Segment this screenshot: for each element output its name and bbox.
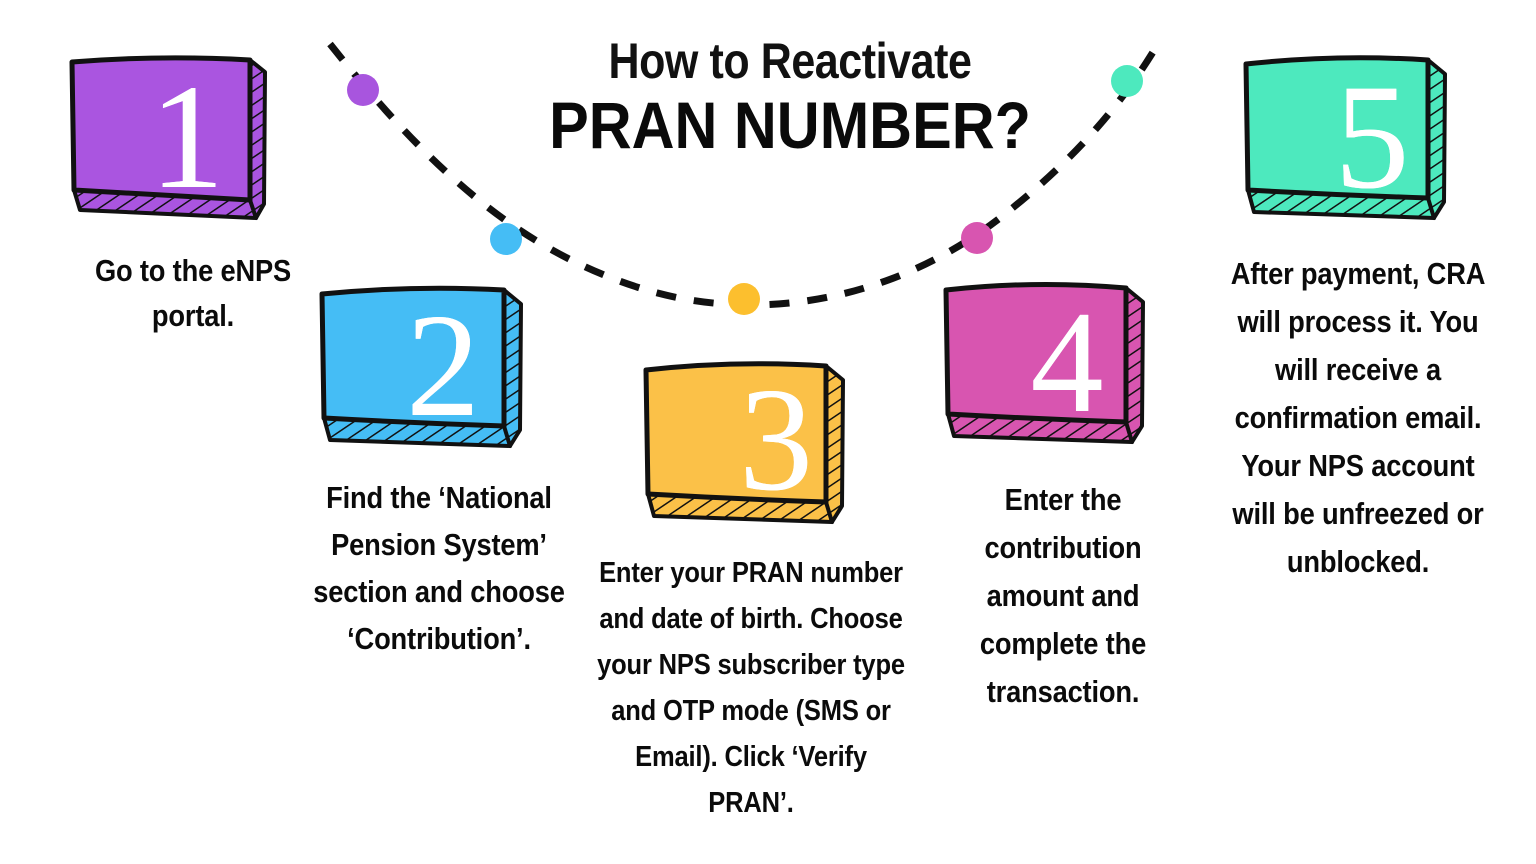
step-2-card[interactable]: 2: [310, 278, 584, 458]
step-4-caption: Enter the contribution amount and comple…: [935, 476, 1190, 716]
step-2-caption: Find the ‘National Pension System’ secti…: [311, 474, 566, 662]
dot-blue: [490, 223, 522, 255]
card-shape-2: [310, 278, 528, 458]
step-4-card[interactable]: 4: [934, 274, 1208, 456]
step-3-caption: Enter your PRAN number and date of birth…: [597, 550, 905, 826]
card-shape-1: [60, 48, 270, 230]
dot-yellow: [728, 283, 760, 315]
step-5: 5 After payment, CRA will process it. Yo…: [1234, 48, 1518, 586]
step-1-caption: Go to the eNPS portal.: [83, 248, 303, 338]
card-shape-4: [934, 274, 1150, 456]
infographic-canvas: How to Reactivate PRAN NUMBER? 1 Go to t…: [0, 0, 1536, 864]
dashed-path: [330, 44, 1158, 305]
card-shape-3: [634, 352, 850, 534]
step-1-card[interactable]: 1: [60, 48, 318, 230]
step-3-card[interactable]: 3: [634, 352, 926, 534]
card-shape-5: [1234, 48, 1454, 232]
step-2: 2 Find the ‘National Pension System’ sec…: [310, 278, 584, 662]
dot-teal: [1111, 65, 1143, 97]
step-5-card[interactable]: 5: [1234, 48, 1518, 232]
step-5-caption: After payment, CRA will process it. You …: [1217, 250, 1499, 586]
step-4: 4 Enter the contribution amount and comp…: [934, 274, 1208, 716]
step-3: 3 Enter your PRAN number and date of bir…: [634, 352, 926, 826]
step-1: 1 Go to the eNPS portal.: [60, 48, 318, 338]
dot-magenta: [961, 222, 993, 254]
dot-purple: [347, 74, 379, 106]
